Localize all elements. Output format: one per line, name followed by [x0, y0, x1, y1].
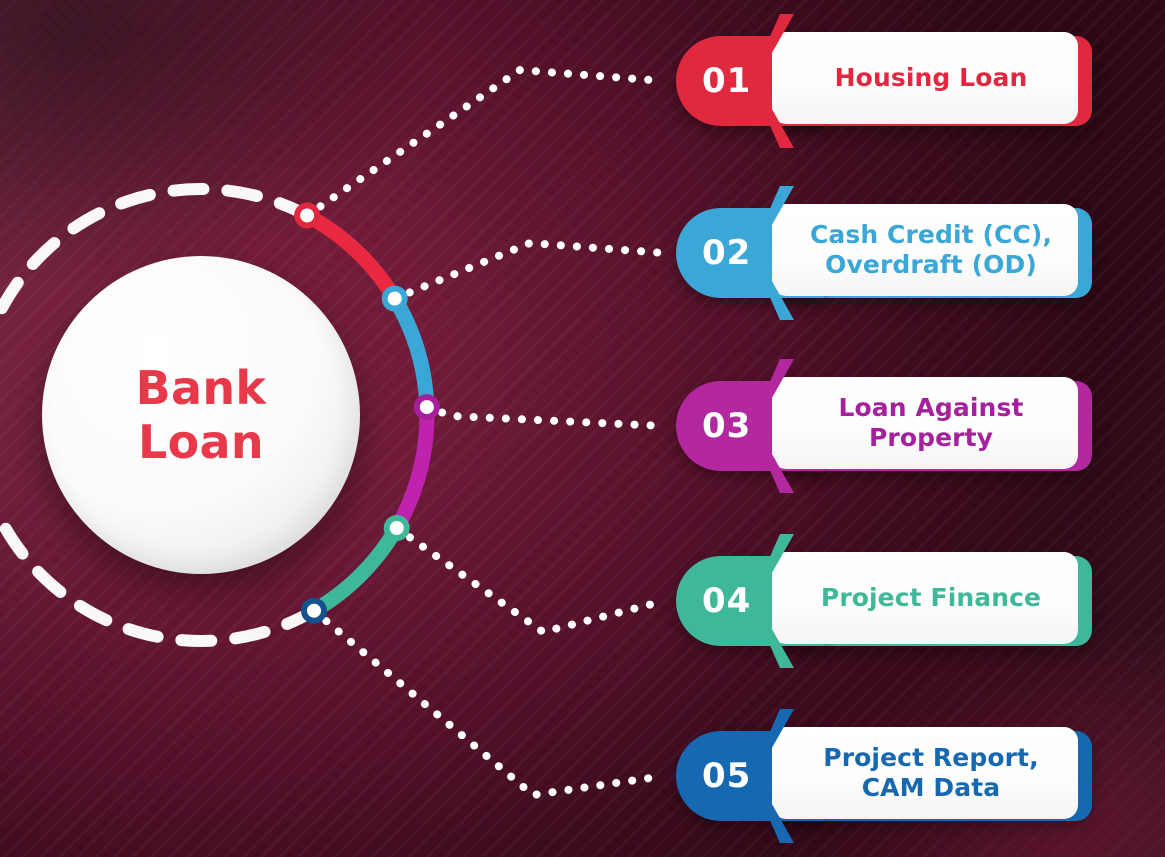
card-chevron-icon	[758, 709, 798, 843]
card-number-text: 05	[702, 756, 751, 796]
infographic-canvas: Bank Loan 01Housing Loan02Cash Credit (C…	[0, 0, 1165, 857]
callout-card-03[interactable]: 03Loan Against Property	[676, 373, 1106, 479]
center-hub: Bank Loan	[42, 256, 360, 574]
card-number-text: 04	[702, 581, 751, 621]
card-chevron-icon	[758, 359, 798, 493]
arc-segment-02	[395, 299, 427, 408]
connector-line-04	[397, 528, 664, 632]
card-body[interactable]: Project Report, CAM Data	[772, 727, 1078, 819]
connector-line-03	[427, 407, 664, 426]
card-chevron-icon	[758, 186, 798, 320]
card-body[interactable]: Project Finance	[772, 552, 1078, 644]
connector-line-05	[314, 611, 664, 795]
arc-node-core-02	[388, 292, 402, 306]
connector-dotted-lines	[307, 70, 664, 795]
card-title: Housing Loan	[835, 63, 1028, 94]
arc-node-core-03	[420, 400, 434, 414]
card-number-text: 02	[702, 233, 751, 273]
card-chevron-icon	[758, 14, 798, 148]
card-number-text: 03	[702, 406, 751, 446]
callout-card-05[interactable]: 05Project Report, CAM Data	[676, 723, 1106, 829]
callout-card-02[interactable]: 02Cash Credit (CC), Overdraft (OD)	[676, 200, 1106, 306]
card-title: Cash Credit (CC), Overdraft (OD)	[810, 220, 1052, 281]
callout-card-04[interactable]: 04Project Finance	[676, 548, 1106, 654]
arc-node-core-04	[390, 521, 404, 535]
connector-line-02	[395, 243, 664, 299]
arc-node-core-05	[307, 604, 321, 618]
center-hub-label: Bank Loan	[136, 361, 267, 470]
card-title: Loan Against Property	[839, 393, 1024, 454]
arc-segment-03	[397, 407, 427, 528]
card-title: Project Report, CAM Data	[823, 743, 1038, 804]
callout-card-01[interactable]: 01Housing Loan	[676, 28, 1106, 134]
arc-segment-04	[314, 528, 397, 611]
card-body[interactable]: Loan Against Property	[772, 377, 1078, 469]
card-body[interactable]: Cash Credit (CC), Overdraft (OD)	[772, 204, 1078, 296]
connector-line-01	[307, 70, 664, 215]
arc-node-core-01	[300, 208, 314, 222]
card-body[interactable]: Housing Loan	[772, 32, 1078, 124]
card-number-text: 01	[702, 61, 751, 101]
arc-segment-01	[307, 215, 395, 298]
card-title: Project Finance	[821, 583, 1041, 614]
card-chevron-icon	[758, 534, 798, 668]
